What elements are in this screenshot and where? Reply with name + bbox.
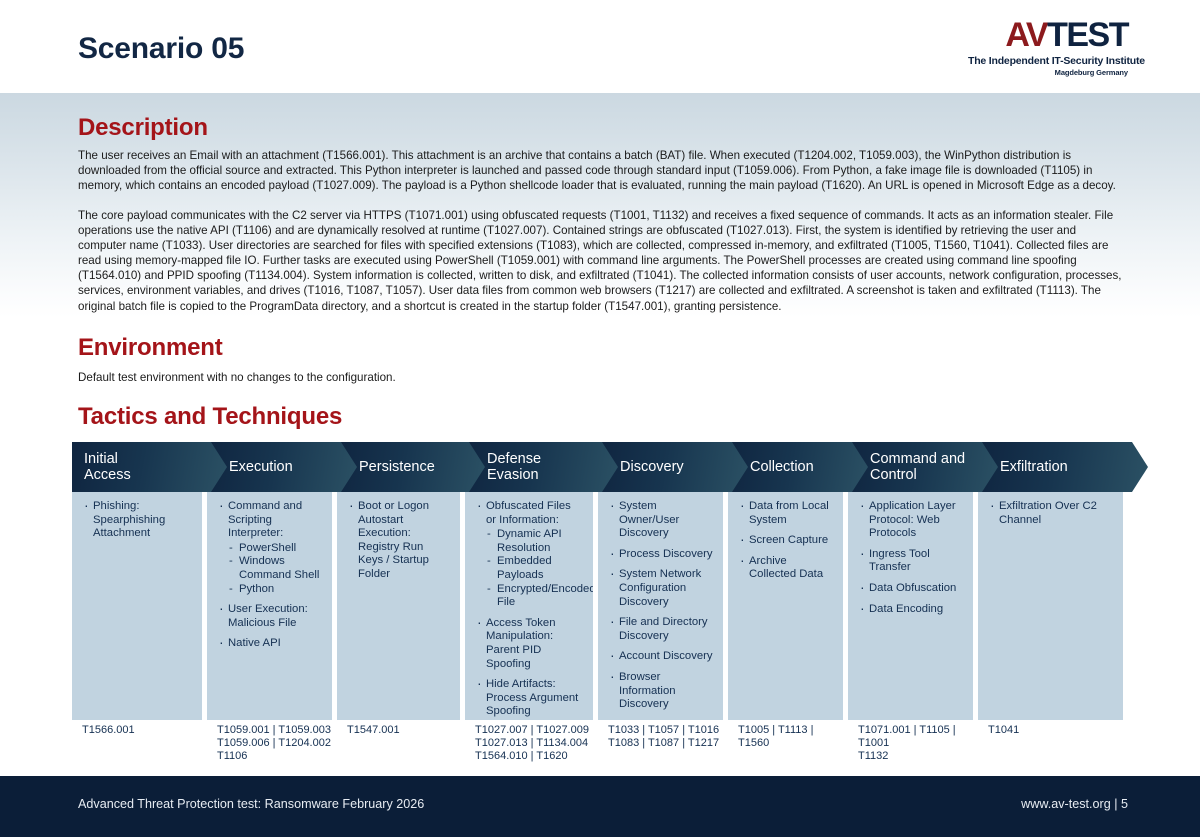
technique-label: Boot or Logon Autostart Execution: Regis… [358,500,429,580]
tactic-header-command-and-control[interactable]: Command and Control [848,442,998,492]
technique-label: File and Directory Discovery [619,616,708,642]
technique-item: Obfuscated Files or Information:Dynamic … [475,500,583,610]
technique-ids-defense-evasion: T1027.007 | T1027.009 T1027.013 | T1134.… [465,724,593,764]
sub-technique-list: Dynamic API ResolutionEmbedded PayloadsE… [486,528,583,610]
tactics-header-row: Initial AccessExecutionPersistenceDefens… [72,442,1128,492]
technique-item: Account Discovery [608,650,713,664]
tactic-cell-exfiltration: Exfiltration Over C2 Channel [978,492,1123,720]
technique-label: Native API [228,637,281,649]
technique-item: Screen Capture [738,534,833,548]
sub-technique-item: Python [228,583,322,597]
technique-item: Data Obfuscation [858,582,963,596]
technique-label: Data Encoding [869,603,943,615]
technique-label: Data from Local System [749,500,829,526]
sub-technique-item: Windows Command Shell [228,555,322,582]
technique-label: Process Discovery [619,548,713,560]
tactic-header-execution[interactable]: Execution [207,442,357,492]
technique-item: Hide Artifacts: Process Argument Spoofin… [475,678,583,719]
sub-technique-item: Encrypted/Encoded File [486,583,583,610]
environment-text: Default test environment with no changes… [78,370,1125,385]
technique-label: Ingress Tool Transfer [869,548,930,574]
description-paragraph-2: The core payload communicates with the C… [78,208,1125,314]
technique-ids-execution: T1059.001 | T1059.003 T1059.006 | T1204.… [207,724,332,764]
tactic-header-collection[interactable]: Collection [728,442,868,492]
logo-tagline: The Independent IT-Security Institute [968,56,1128,67]
sub-technique-item: Dynamic API Resolution [486,528,583,555]
technique-label: Access Token Manipulation: Parent PID Sp… [486,617,556,670]
tactic-header-exfiltration[interactable]: Exfiltration [978,442,1148,492]
technique-list: Phishing: Spearphishing Attachment [82,500,192,541]
scenario-page: Scenario 05 AVTEST The Independent IT-Se… [0,0,1200,837]
av-test-logo: AVTEST The Independent IT-Security Insti… [968,18,1128,76]
tactic-header-persistence[interactable]: Persistence [337,442,485,492]
technique-item: Phishing: Spearphishing Attachment [82,500,192,541]
technique-ids-discovery: T1033 | T1057 | T1016 T1083 | T1087 | T1… [598,724,723,750]
technique-label: Obfuscated Files or Information: [486,500,571,526]
technique-item: Access Token Manipulation: Parent PID Sp… [475,617,583,671]
technique-label: System Network Configuration Discovery [619,568,701,607]
technique-item: Archive Collected Data [738,555,833,582]
technique-list: Boot or Logon Autostart Execution: Regis… [347,500,450,582]
tactic-cell-command-and-control: Application Layer Protocol: Web Protocol… [848,492,973,720]
tactic-cell-execution: Command and Scripting Interpreter:PowerS… [207,492,332,720]
tactic-header-label: Collection [750,459,814,476]
tactic-header-label: Defense Evasion [487,451,541,484]
technique-ids-command-and-control: T1071.001 | T1105 | T1001 T1132 [848,724,973,764]
technique-label: Phishing: Spearphishing Attachment [93,500,165,539]
technique-label: Browser Information Discovery [619,671,676,710]
technique-ids-collection: T1005 | T1113 | T1560 [728,724,843,750]
technique-label: Command and Scripting Interpreter: [228,500,302,539]
technique-label: Data Obfuscation [869,582,956,594]
technique-list: Exfiltration Over C2 Channel [988,500,1113,527]
technique-item: Application Layer Protocol: Web Protocol… [858,500,963,541]
sub-technique-list: PowerShellWindows Command ShellPython [228,542,322,596]
tactic-header-label: Persistence [359,459,435,476]
technique-ids-persistence: T1547.001 [337,724,460,737]
tactics-heading: Tactics and Techniques [78,403,342,431]
sub-technique-item: Embedded Payloads [486,555,583,582]
environment-heading: Environment [78,334,222,362]
tactic-cell-persistence: Boot or Logon Autostart Execution: Regis… [337,492,460,720]
footer-test-name: Advanced Threat Protection test: Ransomw… [78,797,424,811]
technique-item: Ingress Tool Transfer [858,548,963,575]
technique-item: Data Encoding [858,603,963,617]
technique-label: Exfiltration Over C2 Channel [999,500,1097,526]
tactic-header-label: Execution [229,459,293,476]
technique-list: Command and Scripting Interpreter:PowerS… [217,500,322,651]
technique-item: Exfiltration Over C2 Channel [988,500,1113,527]
technique-label: Archive Collected Data [749,555,823,581]
technique-item: System Owner/User Discovery [608,500,713,541]
sub-technique-item: PowerShell [228,542,322,556]
technique-item: Native API [217,637,322,651]
tactic-header-defense-evasion[interactable]: Defense Evasion [465,442,618,492]
tactic-cell-defense-evasion: Obfuscated Files or Information:Dynamic … [465,492,593,720]
technique-item: Data from Local System [738,500,833,527]
technique-ids-initial-access: T1566.001 [72,724,202,737]
tactic-header-initial-access[interactable]: Initial Access [72,442,227,492]
technique-list: Application Layer Protocol: Web Protocol… [858,500,963,616]
technique-list: Data from Local SystemScreen CaptureArch… [738,500,833,582]
tactic-header-label: Command and Control [870,451,965,484]
tactics-table: Initial AccessExecutionPersistenceDefens… [72,442,1128,757]
technique-item: File and Directory Discovery [608,616,713,643]
technique-label: Application Layer Protocol: Web Protocol… [869,500,956,539]
technique-ids-exfiltration: T1041 [978,724,1123,737]
technique-list: Obfuscated Files or Information:Dynamic … [475,500,583,720]
description-heading: Description [78,114,208,142]
tactic-cell-discovery: System Owner/User DiscoveryProcess Disco… [598,492,723,720]
technique-label: User Execution: Malicious File [228,603,308,629]
technique-item: System Network Configuration Discovery [608,568,713,609]
tactic-cell-initial-access: Phishing: Spearphishing Attachment [72,492,202,720]
technique-label: System Owner/User Discovery [619,500,679,539]
technique-item: User Execution: Malicious File [217,603,322,630]
description-paragraph-1: The user receives an Email with an attac… [78,148,1125,193]
tactic-cell-collection: Data from Local SystemScreen CaptureArch… [728,492,843,720]
technique-label: Screen Capture [749,534,828,546]
technique-item: Browser Information Discovery [608,671,713,712]
logo-test-text: TEST [1047,16,1128,54]
technique-list: System Owner/User DiscoveryProcess Disco… [608,500,713,712]
tactic-header-label: Initial Access [84,451,131,484]
tactic-header-label: Discovery [620,459,684,476]
tactics-ids-row: T1566.001T1059.001 | T1059.003 T1059.006… [72,724,1128,772]
logo-location: Magdeburg Germany [968,69,1128,77]
page-footer: Advanced Threat Protection test: Ransomw… [0,776,1200,837]
tactics-body-row: Phishing: Spearphishing AttachmentComman… [72,492,1128,720]
technique-item: Boot or Logon Autostart Execution: Regis… [347,500,450,582]
technique-label: Account Discovery [619,650,713,662]
footer-url-page: www.av-test.org | 5 [1021,797,1128,811]
tactic-header-discovery[interactable]: Discovery [598,442,748,492]
page-title: Scenario 05 [78,32,244,66]
technique-item: Process Discovery [608,548,713,562]
technique-label: Hide Artifacts: Process Argument Spoofin… [486,678,578,717]
tactic-header-label: Exfiltration [1000,459,1068,476]
technique-item: Command and Scripting Interpreter:PowerS… [217,500,322,596]
logo-wordmark: AVTEST [968,18,1128,52]
logo-av-text: AV [1005,16,1047,54]
page-header: Scenario 05 AVTEST The Independent IT-Se… [0,0,1200,93]
